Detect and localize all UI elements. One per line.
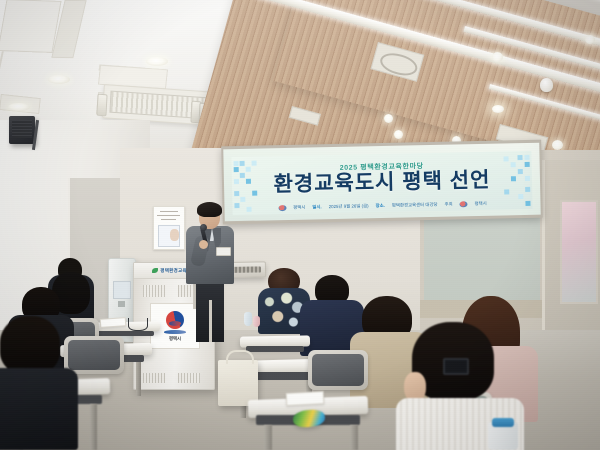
ceiling-downlight [492,52,503,62]
chair-back [308,350,368,390]
wall-notice-poster [153,206,185,250]
speaker-hand [199,240,208,249]
chair-back-pad [312,354,364,386]
ceiling-downlight [384,114,393,123]
slide-footer-place-value: 평택환경교육센터 대강당 [392,202,438,209]
notice-line [160,211,178,212]
ceiling-downlight-bright [492,105,504,113]
desk-leg [264,425,272,450]
speaker-name-badge [216,247,231,256]
cup [244,312,252,326]
slide-title: 환경교육도시 평택 선언 [232,169,532,196]
handout-paper [100,317,127,328]
projection-screen: 2025 평택환경교육한마당 환경교육도시 평택 선언 평택시 일시. 2025… [221,140,543,225]
slide-footer-org: 평택시 [293,205,305,211]
taeguk-icon [166,311,184,329]
presentation-slide: 2025 평택환경교육한마당 환경교육도시 평택 선언 평택시 일시. 2025… [231,151,532,215]
ceiling-downlight [552,140,563,150]
notice-portrait [170,229,179,241]
podium-vent [143,285,165,297]
notice-line [161,219,176,220]
power-cable [128,318,148,331]
hair-clip [443,358,469,375]
slide-footer: 평택시 일시. 2025년 9월 26일 (금) 장소. 평택환경교육센터 대강… [242,200,522,212]
leaf-icon [152,268,158,273]
desk-frame [246,346,304,352]
host-logo-icon [460,201,468,207]
slide-footer-date-value: 2025년 9월 26일 (금) [329,203,369,210]
city-logo-icon [278,205,286,211]
audience-torso [0,368,78,450]
slide-footer-host-label: 주최 [444,202,452,208]
wall-speaker [9,116,35,144]
wave-icon [164,330,186,334]
ac-vane [96,94,107,117]
ceiling-speaker-dome [540,78,553,92]
microphone-head [200,224,207,231]
ceiling-tile [0,0,62,53]
ceiling-downlight [585,35,595,44]
speaker-leg-gap [209,300,212,342]
purifier-panel [113,281,131,299]
podium-vent [178,373,200,383]
slide-footer-host-value: 평택시 [475,201,487,207]
podium-vent [143,373,165,383]
desk-leg [136,362,141,396]
speaker-hair [197,202,222,217]
notice-line [157,215,180,216]
projection-surface: 2025 평택환경교육한마당 환경교육도시 평택 선언 평택시 일시. 2025… [223,143,540,222]
ceiling-downlight [394,130,403,139]
desk-leg [350,425,358,450]
handout-paper [286,391,325,406]
water-bottle-cap [492,418,514,427]
photo-scene: 2025 평택환경교육한마당 환경교육도시 평택 선언 평택시 일시. 2025… [0,0,600,450]
door-window [560,200,598,304]
purifier-nozzle [118,301,125,307]
audience-hair [0,316,60,374]
chair-back-pad [68,340,120,370]
chair-back [64,336,124,374]
slide-footer-date-label: 일시. [312,204,321,210]
ceiling-downlight [146,57,168,66]
desk-leg [90,404,97,450]
slide-footer-place-label: 장소. [375,203,384,209]
cup [253,316,260,327]
ceiling-downlight [8,103,30,111]
podium-plaque-text: 평택시 [169,336,181,342]
ceiling-downlight [48,75,70,84]
